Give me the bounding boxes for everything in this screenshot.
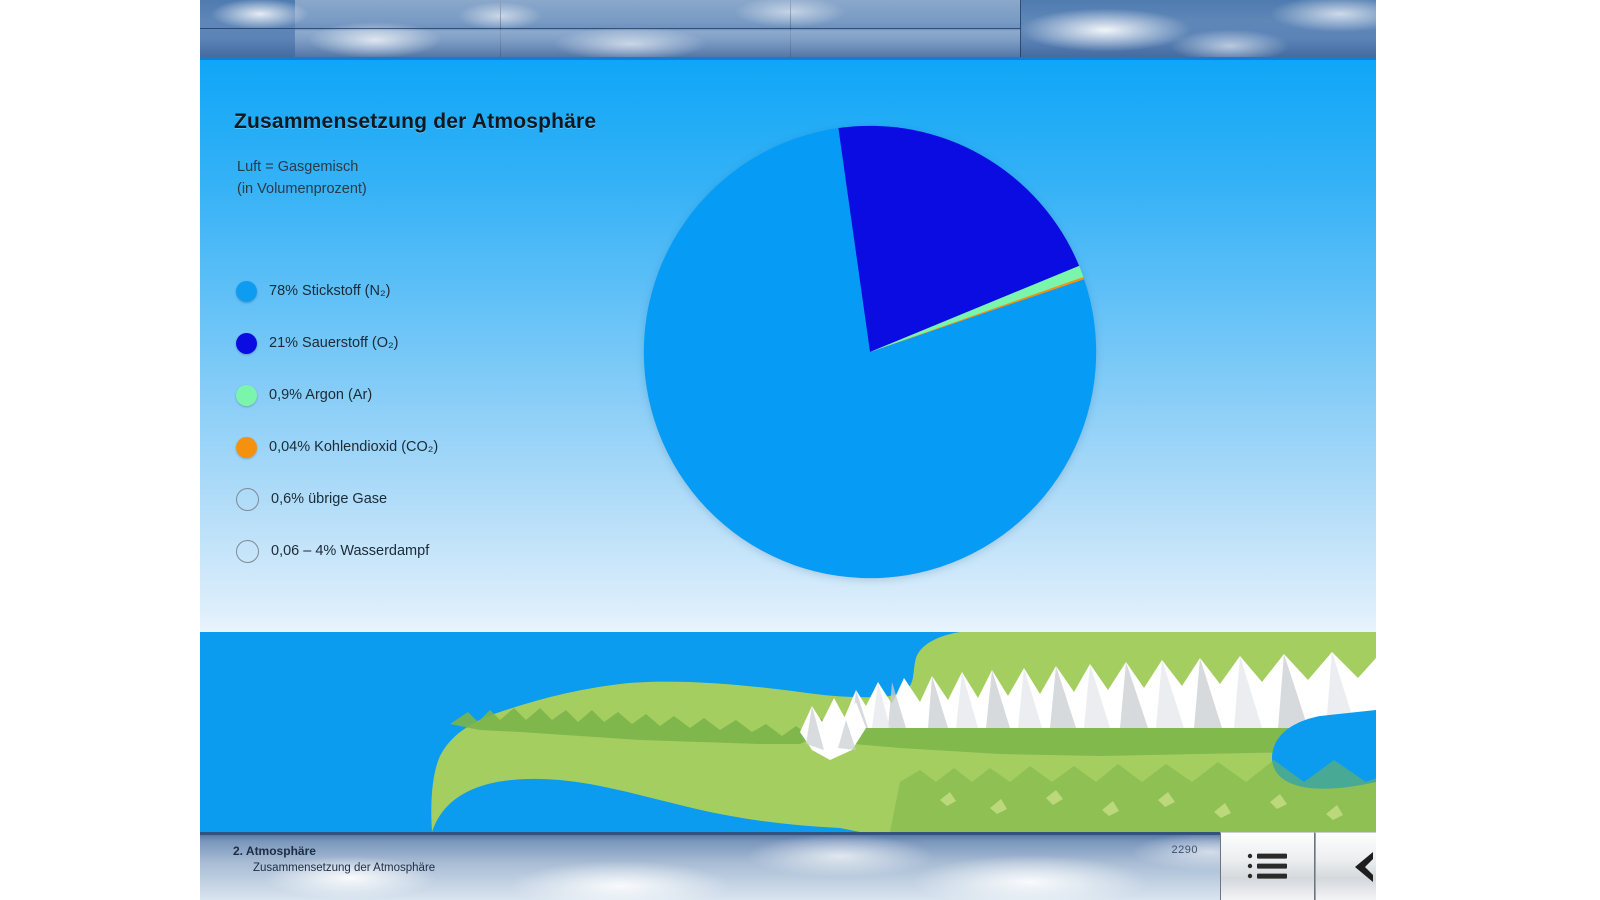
legend-swatch-icon bbox=[236, 540, 259, 563]
pie-chart bbox=[640, 122, 1100, 582]
legend-swatch-icon bbox=[236, 488, 259, 511]
footer-chapter: 2. Atmosphäre bbox=[233, 842, 435, 860]
legend-swatch-icon bbox=[236, 437, 257, 458]
landscape-svg bbox=[200, 632, 1376, 832]
pie-slice-group bbox=[644, 126, 1096, 578]
legend-item-label: 0,9% Argon (Ar) bbox=[269, 387, 372, 403]
footer-top-rule bbox=[200, 832, 1376, 835]
right-margin bbox=[1376, 0, 1600, 900]
footer-bar: 2. Atmosphäre Zusammensetzung der Atmosp… bbox=[200, 832, 1376, 900]
header-sky-band bbox=[200, 0, 1376, 60]
list-icon bbox=[1245, 850, 1291, 884]
header-divider bbox=[1020, 0, 1021, 60]
legend-item-argon[interactable]: 0,9% Argon (Ar) bbox=[236, 369, 566, 421]
legend-item-uebrige-gase[interactable]: 0,6% übrige Gase bbox=[236, 473, 566, 525]
footer-topic: Zusammensetzung der Atmosphäre bbox=[233, 860, 435, 877]
header-panel-1 bbox=[295, 0, 501, 60]
footer-page-number: 2290 bbox=[1172, 844, 1198, 856]
header-panel-3 bbox=[790, 0, 1021, 60]
header-rule bbox=[200, 28, 1020, 29]
chart-legend: 78% Stickstoff (N₂) 21% Sauerstoff (O₂) … bbox=[236, 265, 566, 577]
legend-item-label: 0,6% übrige Gase bbox=[271, 491, 387, 507]
footer-caption: 2. Atmosphäre Zusammensetzung der Atmosp… bbox=[233, 842, 435, 877]
page-title: Zusammensetzung der Atmosphäre bbox=[234, 110, 596, 134]
screenshot-root: Zusammensetzung der Atmosphäre Luft = Ga… bbox=[0, 0, 1600, 900]
chevron-left-icon bbox=[1343, 848, 1377, 886]
legend-swatch-icon bbox=[236, 385, 257, 406]
legend-item-sauerstoff[interactable]: 21% Sauerstoff (O₂) bbox=[236, 317, 566, 369]
left-margin bbox=[0, 0, 200, 900]
legend-item-stickstoff[interactable]: 78% Stickstoff (N₂) bbox=[236, 265, 566, 317]
legend-item-label: 0,06 – 4% Wasserdampf bbox=[271, 543, 429, 559]
legend-item-kohlendioxid[interactable]: 0,04% Kohlendioxid (CO₂) bbox=[236, 421, 566, 473]
navigation-toolbar bbox=[1220, 832, 1376, 900]
subtitle-block: Luft = Gasgemisch (in Volumenprozent) bbox=[237, 156, 367, 201]
contents-list-button[interactable] bbox=[1220, 832, 1315, 900]
legend-item-label: 78% Stickstoff (N₂) bbox=[269, 283, 390, 299]
header-panel-2 bbox=[500, 0, 791, 60]
previous-button[interactable] bbox=[1315, 832, 1376, 900]
slide-canvas: Zusammensetzung der Atmosphäre Luft = Ga… bbox=[200, 0, 1376, 900]
legend-swatch-icon bbox=[236, 333, 257, 354]
legend-item-label: 0,04% Kohlendioxid (CO₂) bbox=[269, 439, 438, 455]
landscape-illustration bbox=[200, 632, 1376, 832]
content-sky: Zusammensetzung der Atmosphäre Luft = Ga… bbox=[200, 60, 1376, 632]
pie-chart-svg bbox=[640, 122, 1100, 582]
legend-item-label: 21% Sauerstoff (O₂) bbox=[269, 335, 398, 351]
subtitle-line-2: (in Volumenprozent) bbox=[237, 178, 367, 200]
subtitle-line-1: Luft = Gasgemisch bbox=[237, 156, 367, 178]
legend-swatch-icon bbox=[236, 281, 257, 302]
legend-item-wasserdampf[interactable]: 0,06 – 4% Wasserdampf bbox=[236, 525, 566, 577]
